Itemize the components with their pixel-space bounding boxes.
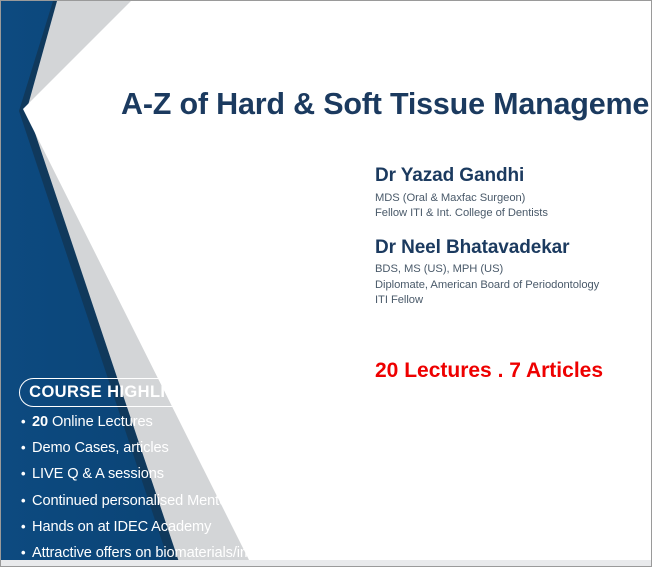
list-item-text: Demo Cases, articles: [32, 441, 169, 456]
list-item: • Attractive offers on biomaterials/impl…: [21, 546, 361, 561]
bullet-dot-icon: •: [21, 467, 32, 480]
page-title: A-Z of Hard & Soft Tissue Management: [121, 87, 641, 122]
speaker-credential-line: Fellow ITI & Int. College of Dentists: [375, 206, 650, 221]
list-item-rest: LIVE Q & A sessions: [32, 466, 164, 482]
list-item-text: LIVE Q & A sessions: [32, 467, 164, 482]
list-item-rest: Demo Cases, articles: [32, 440, 169, 456]
list-item: • Hands on at IDEC Academy: [21, 520, 361, 535]
speaker-name: Dr Neel Bhatavadekar: [375, 236, 650, 260]
speaker-entry: Dr Yazad Gandhi MDS (Oral & Maxfac Surge…: [375, 164, 650, 222]
list-item-lead: 20: [32, 414, 52, 430]
speaker-credential-line: ITI Fellow: [375, 293, 650, 308]
list-item-rest: Continued personalised Mentorship: [32, 493, 258, 509]
list-item-text: 20 Online Lectures: [32, 415, 153, 430]
course-highlights-badge: COURSE HIGHLIGHTS: [19, 378, 223, 407]
list-item-text: Continued personalised Mentorship: [32, 494, 258, 509]
course-highlights-label: COURSE HIGHLIGHTS: [29, 383, 213, 402]
bullet-dot-icon: •: [21, 441, 32, 454]
bullet-dot-icon: •: [21, 546, 32, 559]
course-highlights-list: • 20 Online Lectures • Demo Cases, artic…: [21, 415, 361, 567]
speaker-credential-line: BDS, MS (US), MPH (US): [375, 262, 650, 277]
speakers-list: Dr Yazad Gandhi MDS (Oral & Maxfac Surge…: [375, 164, 650, 309]
bullet-dot-icon: •: [21, 415, 32, 428]
bullet-dot-icon: •: [21, 494, 32, 507]
list-item-rest: Attractive offers on biomaterials/implan…: [32, 545, 304, 561]
list-item-rest: Hands on at IDEC Academy: [32, 519, 211, 535]
list-item: • Demo Cases, articles: [21, 441, 361, 456]
bullet-dot-icon: •: [21, 520, 32, 533]
lectures-articles-count: 20 Lectures . 7 Articles: [375, 359, 603, 383]
list-item: • 20 Online Lectures: [21, 415, 361, 430]
speaker-credential-line: MDS (Oral & Maxfac Surgeon): [375, 191, 650, 206]
course-promo-slide: A-Z of Hard & Soft Tissue Management Dr …: [0, 0, 652, 567]
speaker-name: Dr Yazad Gandhi: [375, 164, 650, 188]
speaker-credential-line: Diplomate, American Board of Periodontol…: [375, 278, 650, 293]
list-item-text: Attractive offers on biomaterials/implan…: [32, 546, 304, 561]
list-item: • LIVE Q & A sessions: [21, 467, 361, 482]
list-item-text: Hands on at IDEC Academy: [32, 520, 211, 535]
speaker-entry: Dr Neel Bhatavadekar BDS, MS (US), MPH (…: [375, 236, 650, 309]
list-item: • Continued personalised Mentorship: [21, 494, 361, 509]
list-item-rest: Online Lectures: [52, 414, 153, 430]
